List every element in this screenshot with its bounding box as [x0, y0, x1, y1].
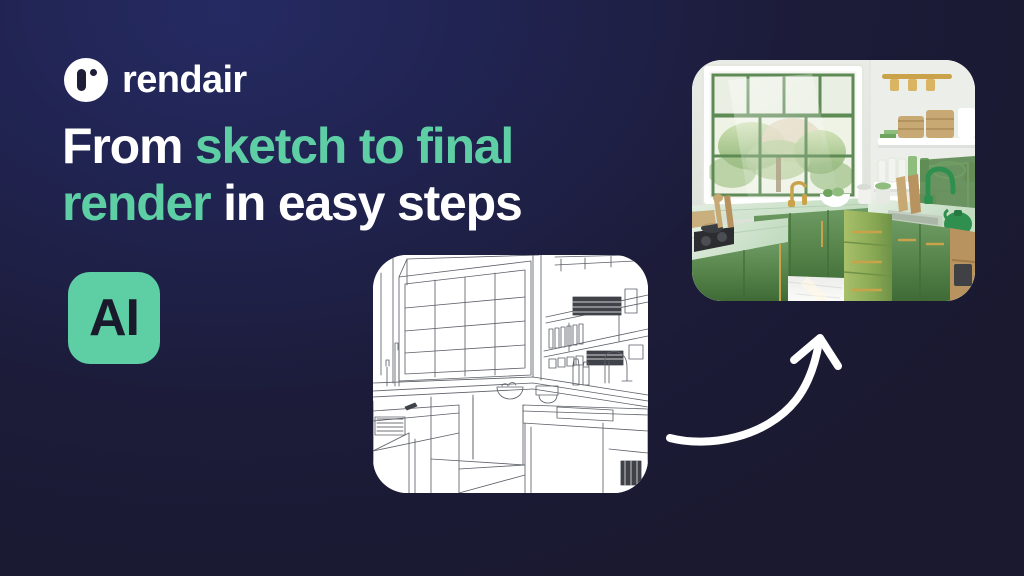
- kitchen-sketch-illustration: [373, 255, 648, 493]
- ai-badge: AI: [68, 272, 160, 364]
- kitchen-render-card: [692, 60, 975, 301]
- page-title: From sketch to final render in easy step…: [62, 118, 622, 231]
- logo-dot-shape: [90, 69, 97, 76]
- headline-part-one: From: [62, 118, 195, 174]
- headline-part-two: in easy steps: [210, 175, 521, 231]
- kitchen-sketch-card: [373, 255, 648, 493]
- promo-banner: rendair From sketch to final render in e…: [0, 0, 1024, 576]
- rendair-circle-r-icon: [64, 58, 108, 102]
- kitchen-render-illustration: [692, 60, 975, 301]
- brand-name: rendair: [122, 61, 247, 99]
- curved-arrow-sketch-to-render: [662, 322, 866, 454]
- brand-logo[interactable]: rendair: [64, 58, 247, 102]
- arrow-icon: [662, 322, 866, 454]
- logo-bar-shape: [77, 69, 86, 91]
- ai-badge-label: AI: [89, 292, 139, 344]
